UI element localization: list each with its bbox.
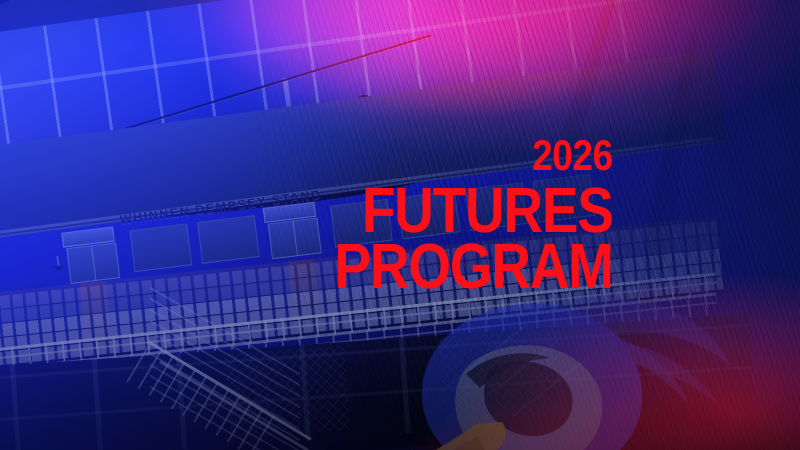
headline-line-2: PROGRAM xyxy=(335,236,613,297)
poster-canvas: WHINNEN DEMPSEY STAND xyxy=(0,0,800,450)
poster-headline: 2026 FUTURES PROGRAM xyxy=(289,136,613,297)
headline-year: 2026 xyxy=(335,136,613,177)
